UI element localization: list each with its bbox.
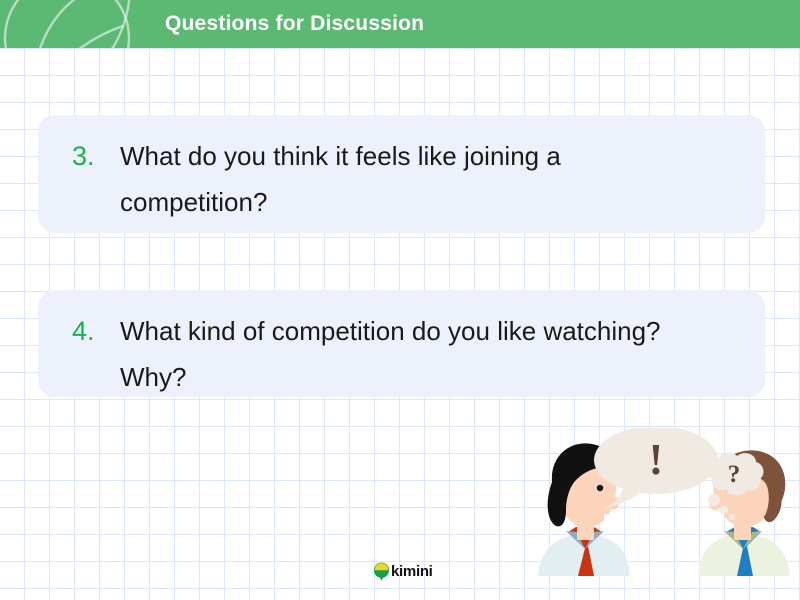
kimini-logo-text: kimini <box>391 562 433 581</box>
question-text: What kind of competition do you like wat… <box>120 308 741 400</box>
kimini-logo: kimini <box>373 561 433 582</box>
kimini-balloon-icon <box>373 562 390 581</box>
question-card: 4. What kind of competition do you like … <box>38 290 765 397</box>
header-bar: Questions for Discussion <box>0 0 800 48</box>
question-card: 3. What do you think it feels like joini… <box>38 115 765 233</box>
two-people-talking-illustration: ! ? <box>528 428 800 576</box>
speech-bubble-text: ! <box>649 435 664 484</box>
slide-canvas: Questions for Discussion 3. What do you … <box>0 0 800 600</box>
leaf-outline-icon <box>0 0 142 48</box>
question-number: 4. <box>72 308 120 354</box>
question-number: 3. <box>72 133 120 179</box>
question-text: What do you think it feels like joining … <box>120 133 741 225</box>
page-title: Questions for Discussion <box>165 0 424 48</box>
thought-bubble-text: ? <box>728 461 741 488</box>
